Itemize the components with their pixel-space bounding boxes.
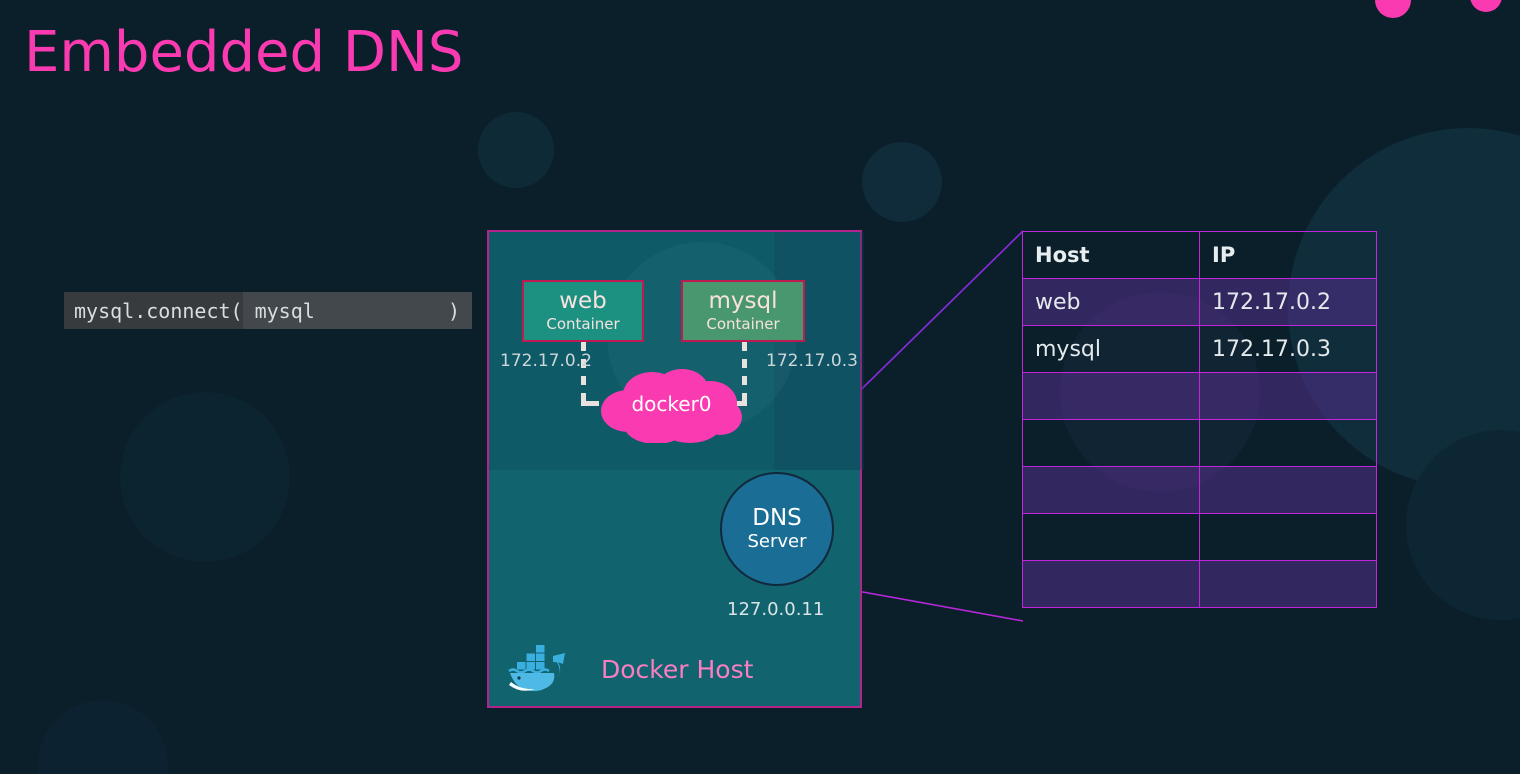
code-call-text: mysql.connect( xyxy=(64,299,243,323)
cell-host xyxy=(1023,467,1200,514)
ip-label-mysql: 172.17.0.3 xyxy=(766,351,858,371)
ip-label-web: 172.17.0.2 xyxy=(500,351,592,371)
column-header-ip: IP xyxy=(1200,232,1377,279)
code-argument-text: mysql xyxy=(255,299,315,323)
cell-ip xyxy=(1200,467,1377,514)
table-header-row: Host IP xyxy=(1023,232,1377,279)
decor-dot-right xyxy=(1470,0,1502,12)
docker-host-label: Docker Host xyxy=(601,655,753,684)
bg-circle-right-lower xyxy=(1406,430,1520,620)
table-row[interactable] xyxy=(1023,514,1377,561)
cell-ip: 172.17.0.3 xyxy=(1200,326,1377,373)
dns-title: DNS xyxy=(752,506,802,530)
cloud-icon xyxy=(594,365,749,443)
container-mysql-type: Container xyxy=(706,315,779,333)
column-header-host: Host xyxy=(1023,232,1200,279)
code-snippet-box: mysql.connect( mysql ) xyxy=(64,292,472,329)
bg-circle-mid-upper xyxy=(862,142,942,222)
code-close-paren: ) xyxy=(448,299,460,323)
cell-ip xyxy=(1200,420,1377,467)
slide-canvas: Embedded DNS mysql.connect( mysql ) web … xyxy=(0,0,1520,774)
dns-server-node[interactable]: DNS Server xyxy=(720,472,834,586)
cell-ip: 172.17.0.2 xyxy=(1200,279,1377,326)
decor-dot-left xyxy=(1375,0,1411,18)
ip-label-dns: 127.0.0.11 xyxy=(727,599,824,620)
cell-host xyxy=(1023,514,1200,561)
bg-circle-left-lower xyxy=(120,392,290,562)
cell-host: web xyxy=(1023,279,1200,326)
cell-host: mysql xyxy=(1023,326,1200,373)
docker-host-box: web Container mysql Container 172.17.0.2… xyxy=(487,230,862,708)
cell-host xyxy=(1023,561,1200,608)
container-web[interactable]: web Container xyxy=(522,280,644,342)
cell-ip xyxy=(1200,514,1377,561)
table-row[interactable] xyxy=(1023,467,1377,514)
page-title: Embedded DNS xyxy=(24,22,463,84)
bg-circle-left-upper xyxy=(478,112,554,188)
docker-whale-icon xyxy=(503,636,577,692)
code-argument-segment: mysql ) xyxy=(243,292,472,329)
table-row[interactable]: web 172.17.0.2 xyxy=(1023,279,1377,326)
cell-ip xyxy=(1200,561,1377,608)
bg-circle-bottom-left xyxy=(38,700,168,774)
table-row[interactable]: mysql 172.17.0.3 xyxy=(1023,326,1377,373)
container-mysql[interactable]: mysql Container xyxy=(681,280,805,342)
cell-host xyxy=(1023,420,1200,467)
table-row[interactable] xyxy=(1023,420,1377,467)
table-row[interactable] xyxy=(1023,561,1377,608)
dns-subtitle: Server xyxy=(747,531,806,552)
dns-lookup-table: Host IP web 172.17.0.2 mysql 172.17.0.3 xyxy=(1022,231,1377,608)
container-web-name: web xyxy=(559,289,607,313)
container-web-type: Container xyxy=(546,315,619,333)
container-mysql-name: mysql xyxy=(709,289,778,313)
cell-ip xyxy=(1200,373,1377,420)
cell-host xyxy=(1023,373,1200,420)
table-row[interactable] xyxy=(1023,373,1377,420)
